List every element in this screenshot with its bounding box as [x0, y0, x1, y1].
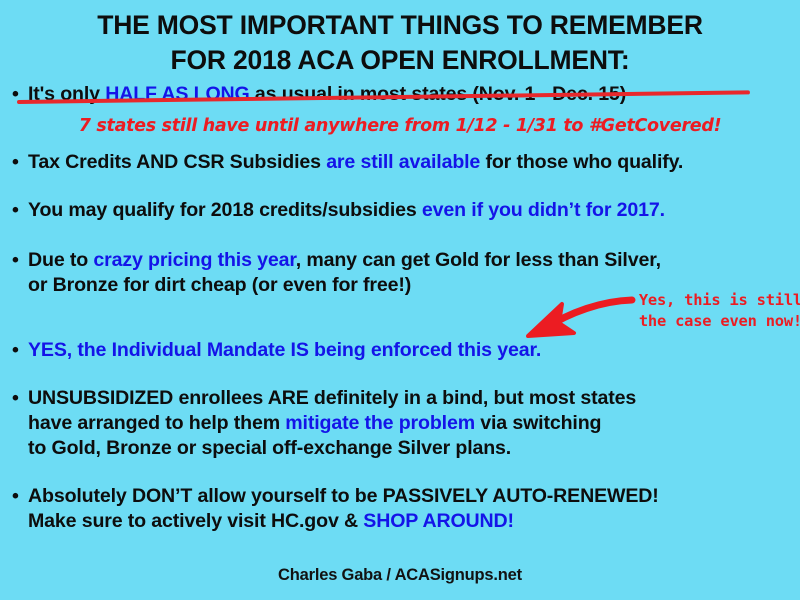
- bullet-marker: •: [12, 338, 19, 363]
- bullet-line: Due to crazy pricing this year, many can…: [28, 248, 798, 273]
- text-segment: Make sure to actively visit HC.gov &: [28, 510, 363, 532]
- bullet-marker: •: [12, 248, 19, 273]
- bullet-text: Tax Credits AND CSR Subsidies are still …: [28, 150, 798, 175]
- bullet-marker: •: [12, 198, 19, 223]
- bullet-item-unsubsidized: • UNSUBSIDIZED enrollees ARE definitely …: [12, 386, 798, 461]
- bullet-marker: •: [12, 484, 19, 509]
- annotation-line-2: the case even now!: [612, 311, 800, 332]
- page-title: THE MOST IMPORTANT THINGS TO REMEMBER FO…: [0, 8, 800, 78]
- bullet-item-qualify-2018: • You may qualify for 2018 credits/subsi…: [12, 198, 798, 223]
- text-segment: , many can get Gold for less than Silver…: [296, 249, 661, 271]
- bullet-line: UNSUBSIDIZED enrollees ARE definitely in…: [28, 386, 798, 411]
- bullet-line: Make sure to actively visit HC.gov & SHO…: [28, 509, 798, 534]
- title-line-2: FOR 2018 ACA OPEN ENROLLMENT:: [0, 43, 800, 78]
- bullet-text: UNSUBSIDIZED enrollees ARE definitely in…: [28, 386, 798, 461]
- bullet-line: You may qualify for 2018 credits/subsidi…: [28, 198, 798, 223]
- bullet-item-tax-credits: • Tax Credits AND CSR Subsidies are stil…: [12, 150, 798, 175]
- bullet-item-auto-renewal: • Absolutely DON’T allow yourself to be …: [12, 484, 798, 534]
- highlight-segment: are still available: [326, 151, 480, 173]
- annotation-line-1: Yes, this is still: [612, 290, 800, 311]
- bullet-marker: •: [12, 150, 19, 175]
- bullet-marker: •: [12, 386, 19, 411]
- correction-note: 7 states still have until anywhere from …: [0, 116, 800, 136]
- title-line-1: THE MOST IMPORTANT THINGS TO REMEMBER: [0, 8, 800, 43]
- bullet-item-individual-mandate: • YES, the Individual Mandate IS being e…: [12, 338, 798, 363]
- bullet-line: Tax Credits AND CSR Subsidies are still …: [28, 150, 798, 175]
- highlight-segment: crazy pricing this year: [93, 249, 295, 271]
- bullet-line: to Gold, Bronze or special off-exchange …: [28, 436, 798, 461]
- bullet-line: have arranged to help them mitigate the …: [28, 411, 798, 436]
- bullet-line: YES, the Individual Mandate IS being enf…: [28, 338, 798, 363]
- text-segment: for those who qualify.: [480, 151, 683, 173]
- text-segment: Due to: [28, 249, 93, 271]
- highlight-segment: even if you didn’t for 2017.: [422, 199, 665, 221]
- highlight-segment: SHOP AROUND!: [363, 510, 514, 532]
- text-segment: You may qualify for 2018 credits/subsidi…: [28, 199, 422, 221]
- annotation-note: Yes, this is still the case even now!: [612, 290, 800, 332]
- bullet-text: YES, the Individual Mandate IS being enf…: [28, 338, 798, 363]
- text-segment: have arranged to help them: [28, 412, 285, 434]
- infographic-poster: THE MOST IMPORTANT THINGS TO REMEMBER FO…: [0, 0, 800, 600]
- text-segment: via switching: [475, 412, 601, 434]
- highlight-segment: mitigate the problem: [285, 412, 475, 434]
- footer-credit: Charles Gaba / ACASignups.net: [0, 566, 800, 585]
- text-segment: Tax Credits AND CSR Subsidies: [28, 151, 326, 173]
- bullet-line: Absolutely DON’T allow yourself to be PA…: [28, 484, 798, 509]
- highlight-segment: YES, the Individual Mandate IS being enf…: [28, 339, 541, 361]
- bullet-text: You may qualify for 2018 credits/subsidi…: [28, 198, 798, 223]
- bullet-text: Absolutely DON’T allow yourself to be PA…: [28, 484, 798, 534]
